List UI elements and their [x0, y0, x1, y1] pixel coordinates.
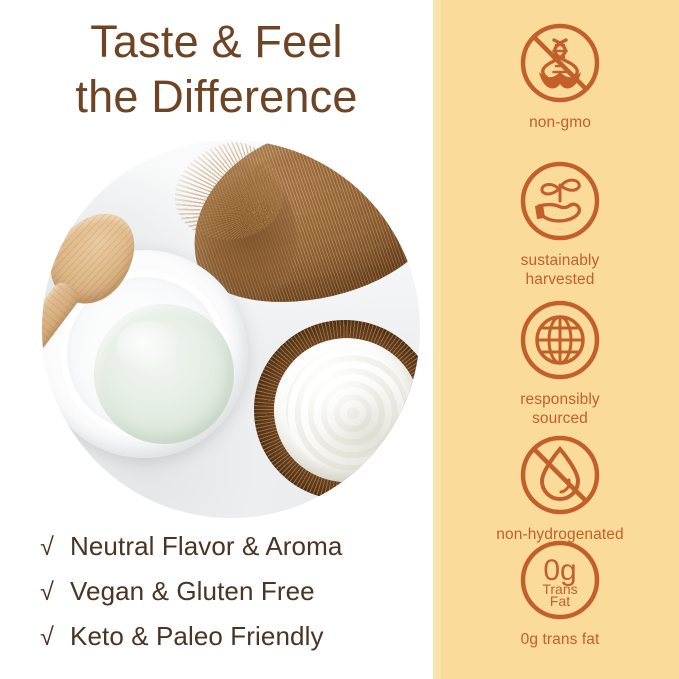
badge-label-line-2: harvested — [521, 270, 600, 289]
page-title: Taste & Feel the Difference — [0, 14, 433, 124]
badge-label: non-gmo — [529, 113, 591, 132]
badge-list: non-gmo sus — [441, 0, 679, 679]
jar-oil-surface — [94, 304, 234, 444]
badge-label-line-2: sourced — [520, 409, 600, 428]
check-icon: √ — [36, 615, 58, 659]
hand-holding-sprout-icon — [517, 158, 603, 244]
non-gmo-icon — [517, 20, 603, 106]
badge-label-line-1: 0g trans fat — [521, 630, 600, 649]
infographic-page: Taste & Feel the Difference — [0, 0, 679, 679]
list-item: √ Vegan & Gluten Free — [36, 569, 431, 614]
left-content-column: Taste & Feel the Difference — [0, 0, 433, 679]
badge-responsibly-sourced: responsibly sourced — [441, 297, 679, 428]
badge-label: 0g trans fat — [521, 630, 600, 649]
headline-line-2: the Difference — [0, 69, 433, 124]
list-item-label: Vegan & Gluten Free — [70, 569, 315, 613]
badge-non-hydrogenated: non-hydrogenated — [441, 432, 679, 544]
half-coconut-image — [245, 311, 420, 509]
panel-edge-stripe — [433, 0, 441, 679]
badge-label: sustainably harvested — [521, 251, 600, 289]
check-icon: √ — [36, 525, 58, 569]
list-item-label: Neutral Flavor & Aroma — [70, 524, 342, 568]
headline-line-1: Taste & Feel — [90, 16, 343, 67]
badge-label-line-1: sustainably — [521, 251, 600, 270]
globe-icon — [517, 297, 603, 383]
coconut-oil-in-shell — [267, 331, 420, 489]
benefits-panel: non-gmo sus — [433, 0, 679, 679]
badge-zero-trans-fat: 0g Trans Fat 0g trans fat — [441, 537, 679, 649]
list-item: √ Keto & Paleo Friendly — [36, 614, 431, 659]
badge-label-line-1: responsibly — [520, 390, 600, 409]
zero-g-trans-fat-icon: 0g Trans Fat — [517, 537, 603, 623]
photo-inner — [42, 140, 420, 518]
product-photo — [42, 140, 420, 518]
list-item-label: Keto & Paleo Friendly — [70, 614, 324, 658]
badge-label-line-1: non-gmo — [529, 113, 591, 132]
badge-sustainably-harvested: sustainably harvested — [441, 158, 679, 289]
badge-label: responsibly sourced — [520, 390, 600, 428]
feature-list: √ Neutral Flavor & Aroma √ Vegan & Glute… — [36, 524, 431, 659]
no-droplet-icon — [517, 432, 603, 518]
badge-non-gmo: non-gmo — [441, 20, 679, 132]
list-item: √ Neutral Flavor & Aroma — [36, 524, 431, 569]
trans-fat-word-fat: Fat — [550, 593, 570, 609]
check-icon: √ — [36, 570, 58, 614]
